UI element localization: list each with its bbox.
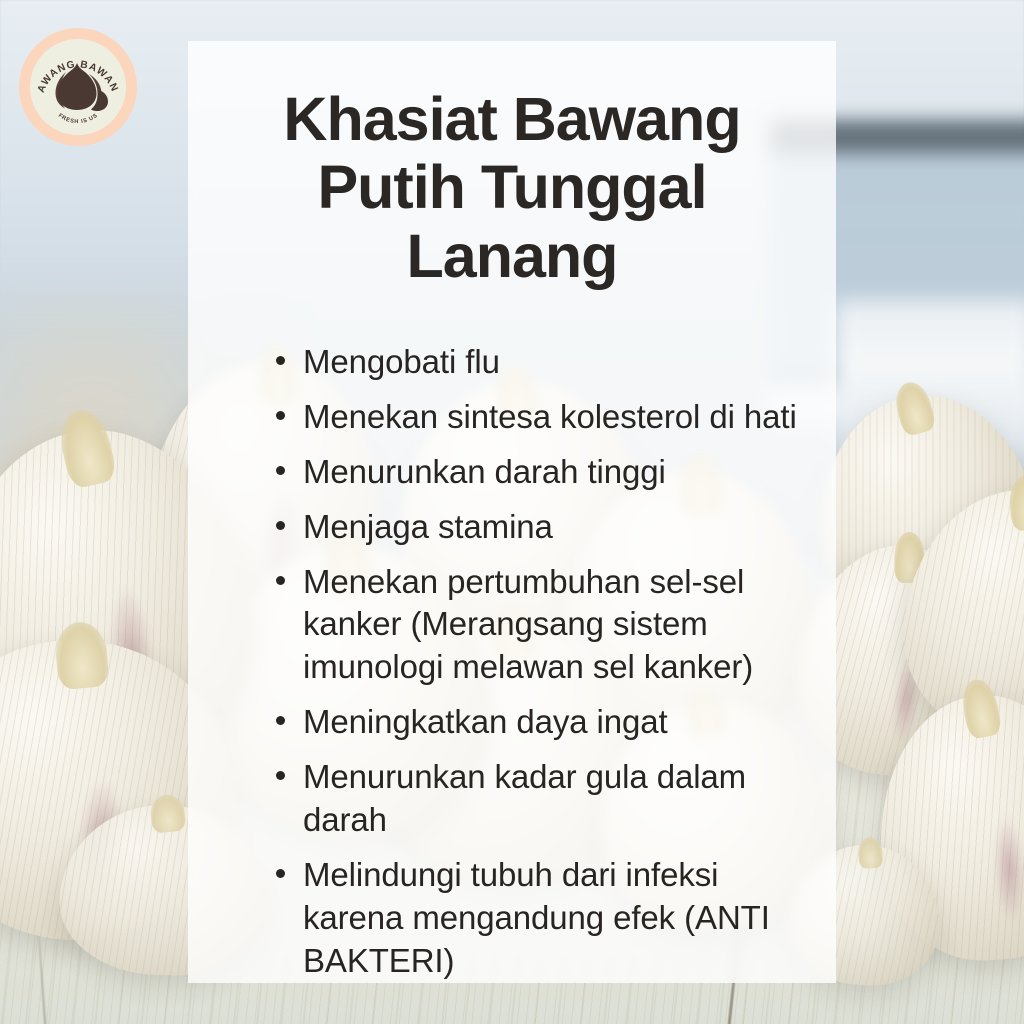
list-item: Mengobati flu [274, 341, 808, 384]
list-item-label: Menurunkan kadar gula dalam darah [303, 758, 746, 838]
benefits-list: Mengobati flu Menekan sintesa kolesterol… [274, 341, 808, 995]
list-item-label: Mengobati flu [303, 343, 500, 380]
list-item: Menekan sintesa kolesterol di hati [274, 396, 808, 439]
bullet-icon [276, 771, 285, 780]
brand-logo: BAWANG BAWANG FRESH IS US [19, 28, 137, 146]
list-item-label: Menekan sintesa kolesterol di hati [303, 398, 797, 435]
list-item-label: Meningkatkan daya ingat [303, 703, 668, 740]
list-item-label: Menurunkan darah tinggi [303, 453, 666, 490]
bullet-icon [276, 869, 285, 878]
logo-tagline: FRESH IS US [57, 113, 99, 125]
list-item: Menekan pertumbuhan sel-sel kanker (Mera… [274, 561, 808, 690]
bullet-icon [276, 356, 285, 365]
bullet-icon [276, 716, 285, 725]
list-item-label: Menekan pertumbuhan sel-sel kanker (Mera… [303, 563, 753, 686]
list-item-label: Menjaga stamina [303, 508, 553, 545]
logo-inner-circle: BAWANG BAWANG FRESH IS US [30, 39, 126, 135]
bullet-icon [276, 466, 285, 475]
list-item: Meningkatkan daya ingat [274, 701, 808, 744]
list-item: Menurunkan kadar gula dalam darah [274, 756, 808, 842]
svg-text:FRESH IS US: FRESH IS US [57, 113, 99, 125]
bullet-icon [276, 576, 285, 585]
list-item-label: Melindungi tubuh dari infeksi karena men… [303, 856, 770, 979]
poster-canvas: Khasiat Bawang Putih Tunggal Lanang Meng… [0, 0, 1024, 1024]
list-item: Menurunkan darah tinggi [274, 451, 808, 494]
list-item: Melindungi tubuh dari infeksi karena men… [274, 854, 808, 983]
bullet-icon [276, 411, 285, 420]
garlic-logo-icon: BAWANG BAWANG FRESH IS US [30, 39, 126, 135]
content-card: Khasiat Bawang Putih Tunggal Lanang Meng… [188, 41, 836, 983]
bullet-icon [276, 521, 285, 530]
list-item: Menjaga stamina [274, 506, 808, 549]
page-title: Khasiat Bawang Putih Tunggal Lanang [188, 85, 836, 290]
